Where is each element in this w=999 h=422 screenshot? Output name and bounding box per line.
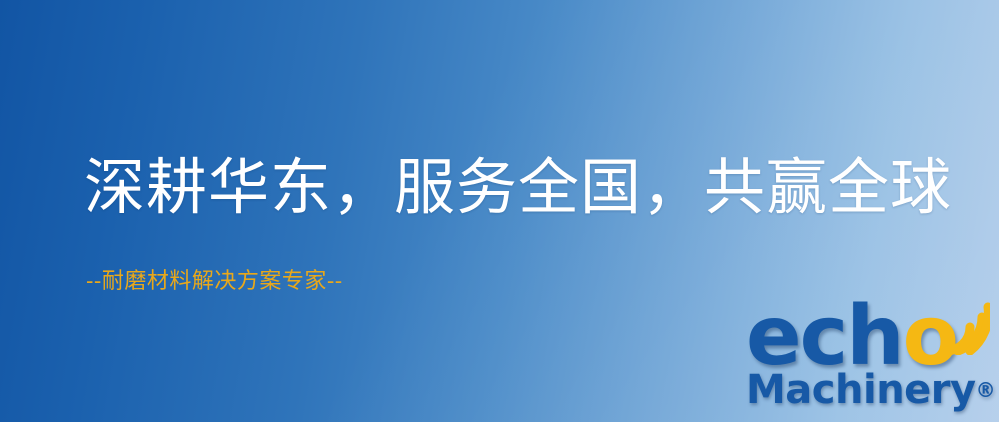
- banner-headline: 深耕华东，服务全国，共赢全球: [84, 152, 952, 224]
- logo-subtext-label: Machinery: [746, 367, 976, 413]
- promo-banner: 深耕华东，服务全国，共赢全球 --耐磨材料解决方案专家-- echo Machi…: [0, 0, 999, 422]
- signal-arcs-icon: [926, 293, 990, 355]
- registered-trademark-icon: ®: [976, 378, 996, 402]
- banner-subtitle: --耐磨材料解决方案专家--: [86, 268, 343, 297]
- logo-subtext: Machinery®: [746, 368, 996, 412]
- echo-machinery-logo[interactable]: echo Machinery®: [742, 296, 994, 420]
